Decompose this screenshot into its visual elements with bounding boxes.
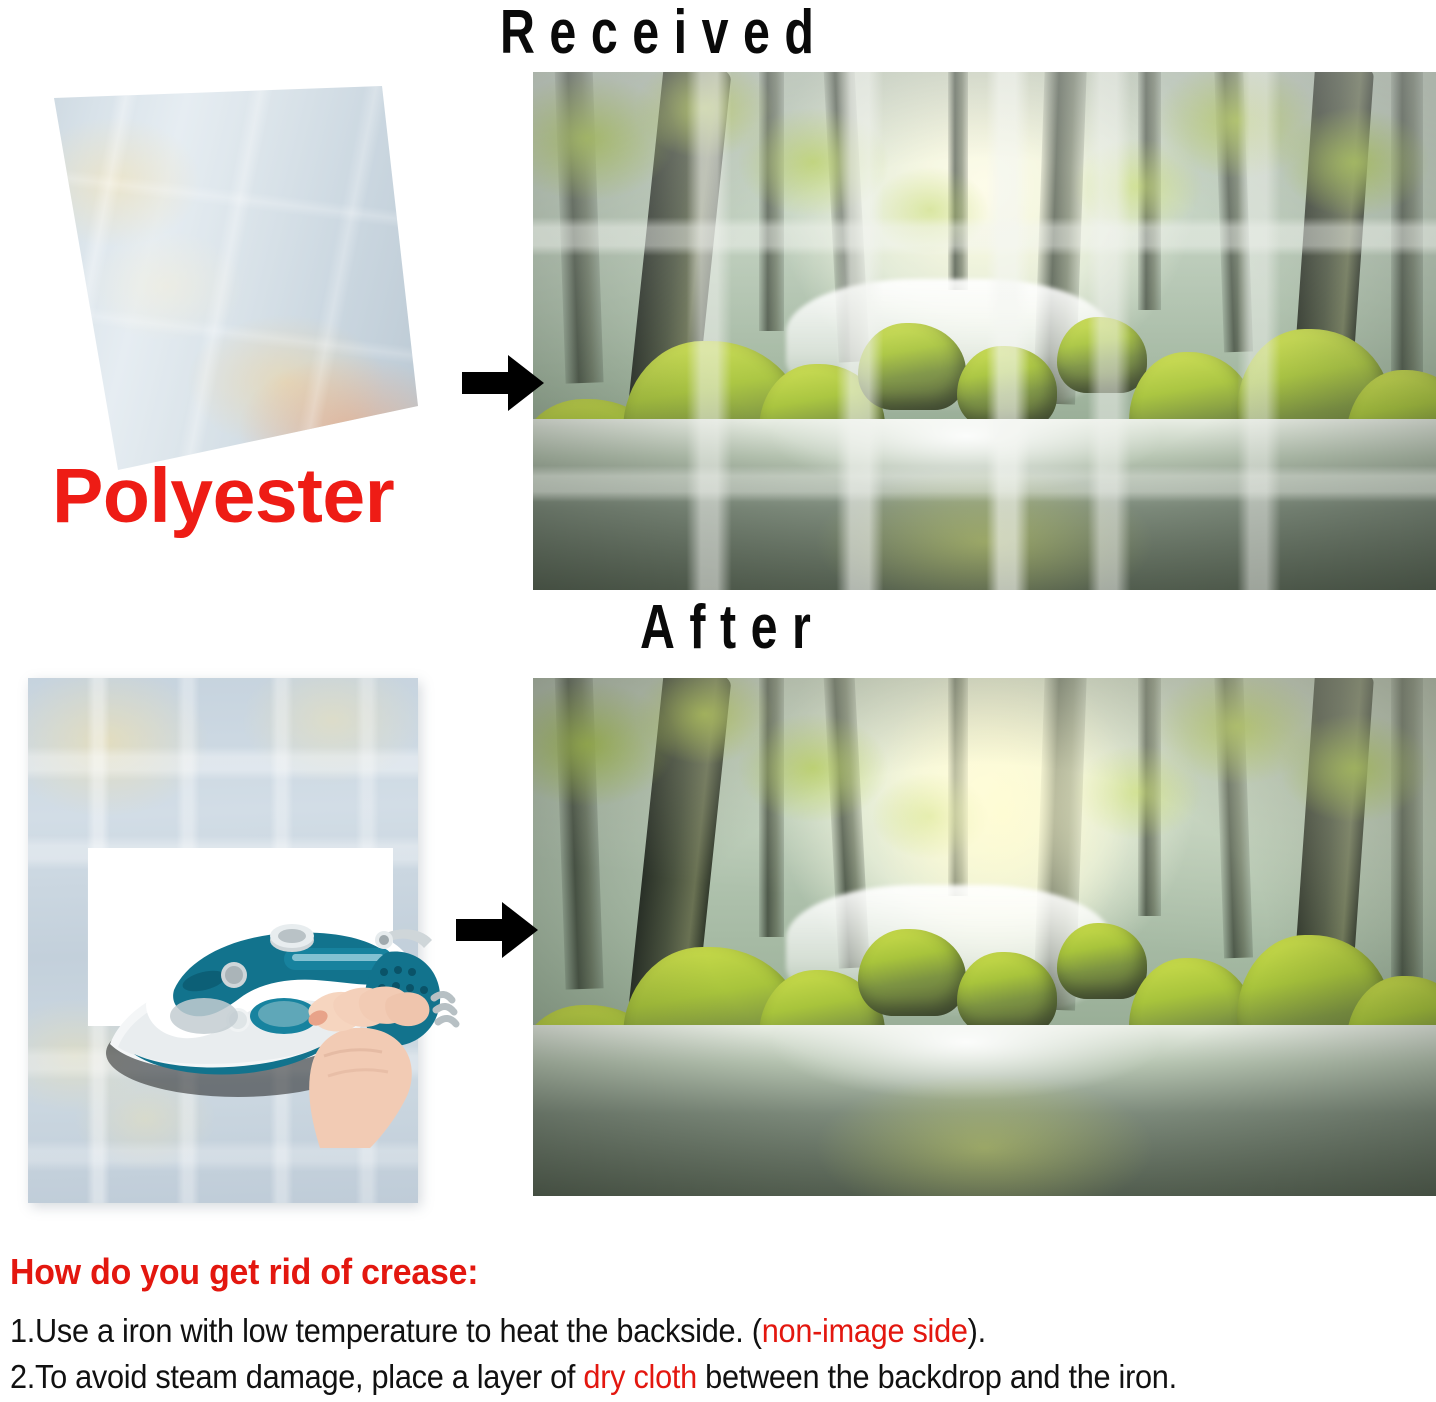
after-heading: After <box>640 597 825 659</box>
care-step-1: 1.Use a iron with low temperature to hea… <box>10 1308 1336 1354</box>
polyester-material-label: Polyester <box>52 458 394 535</box>
care-step-1-prefix: 1.Use a iron with low temperature to hea… <box>10 1312 762 1349</box>
care-step-1-highlight: non-image side <box>762 1312 968 1349</box>
right-arrow-icon <box>462 355 544 411</box>
after-backdrop-image <box>533 678 1436 1196</box>
received-backdrop-image <box>533 72 1436 590</box>
ironing-photo <box>88 848 393 1026</box>
care-step-2-prefix: 2.To avoid steam damage, place a layer o… <box>10 1358 583 1395</box>
care-instructions-title: How do you get rid of crease: <box>10 1252 1350 1292</box>
right-arrow-icon <box>456 902 538 958</box>
folded-fabric-swatch <box>22 78 422 478</box>
fabric-swatch-fold-lines <box>22 78 422 478</box>
forest-vignette-layer <box>533 678 1436 1196</box>
crease-fold-lines <box>533 72 1436 590</box>
care-instructions: How do you get rid of crease: 1.Use a ir… <box>10 1252 1436 1399</box>
infographic-page: Received Polyester <box>0 0 1436 1402</box>
care-step-2-highlight: dry cloth <box>583 1358 696 1395</box>
hand-icon <box>306 987 429 1149</box>
care-step-2-suffix: between the backdrop and the iron. <box>697 1358 1177 1395</box>
care-step-2: 2.To avoid steam damage, place a layer o… <box>10 1354 1336 1400</box>
received-heading: Received <box>500 2 828 64</box>
steam-iron-icon <box>88 848 468 1148</box>
care-step-1-suffix: ). <box>968 1312 986 1349</box>
